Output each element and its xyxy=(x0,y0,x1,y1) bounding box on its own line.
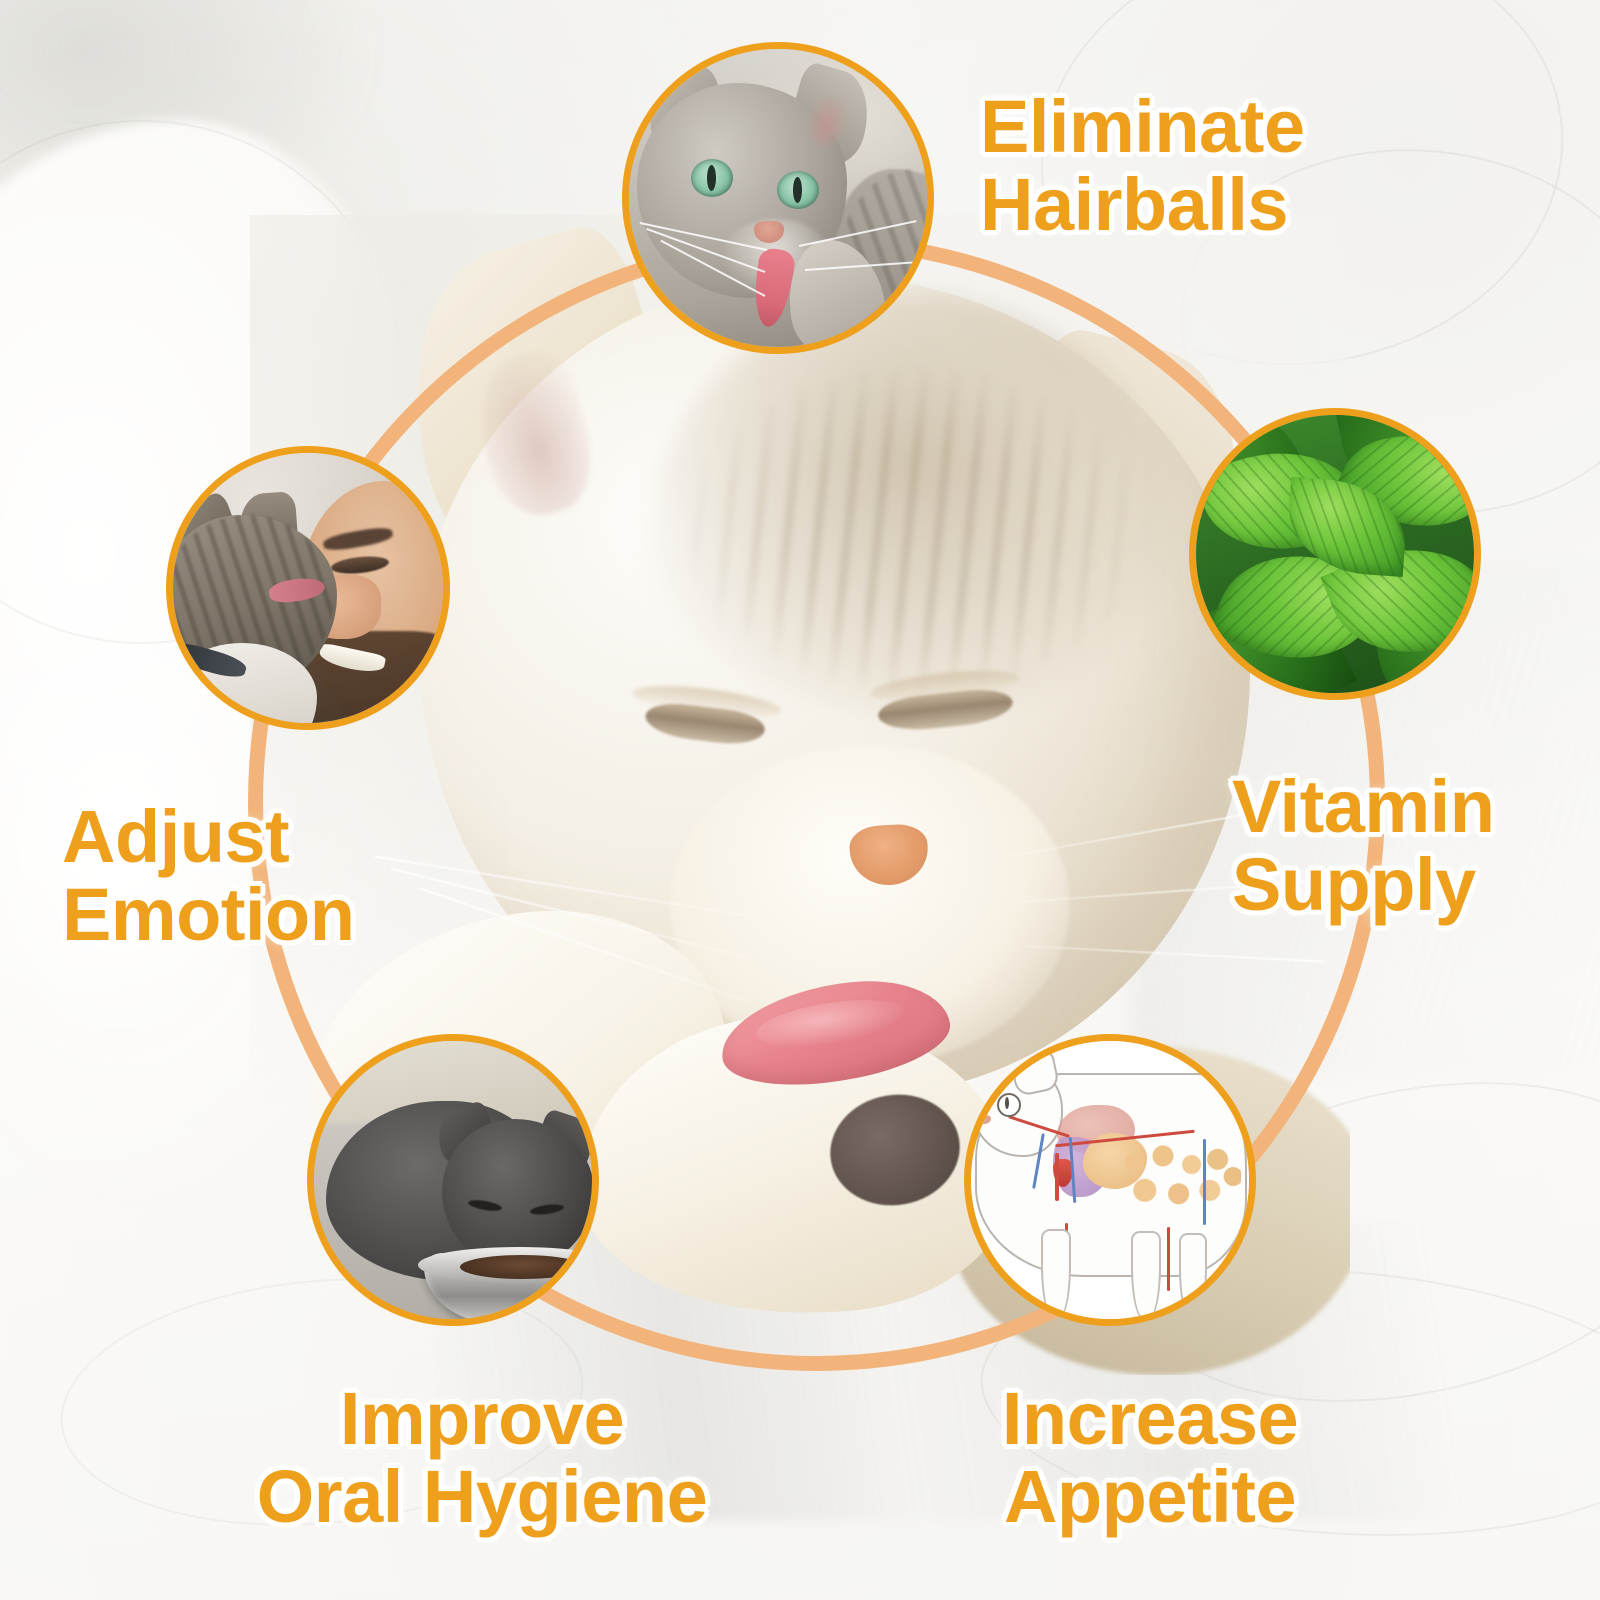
benefit-label-improve-oral-hygiene: Improve Oral Hygiene xyxy=(232,1380,732,1535)
benefit-circle-vitamin-supply[interactable] xyxy=(1189,408,1481,700)
benefit-label-vitamin-supply: Vitamin Supply xyxy=(1232,768,1494,923)
benefit-circle-improve-oral-hygiene[interactable] xyxy=(307,1034,599,1326)
benefit-label-adjust-emotion: Adjust Emotion xyxy=(62,798,354,953)
benefit-label-eliminate-hairballs: Eliminate Hairballs xyxy=(980,88,1305,243)
benefit-circle-adjust-emotion[interactable] xyxy=(166,446,450,730)
cat-licking-paw-photo xyxy=(629,49,927,347)
mint-leaves-photo xyxy=(1196,415,1474,693)
benefit-circle-increase-appetite[interactable] xyxy=(964,1034,1256,1326)
benefit-circle-eliminate-hairballs[interactable] xyxy=(622,42,934,354)
infographic-canvas: Eliminate Hairballs Vitamin Supply Incre… xyxy=(0,0,1600,1600)
benefit-label-increase-appetite: Increase Appetite xyxy=(930,1380,1370,1535)
cat-anatomy-diagram xyxy=(971,1041,1249,1319)
cat-licking-man-face-photo xyxy=(173,453,443,723)
cat-eating-from-bowl-photo xyxy=(314,1041,592,1319)
cat-tabby-stripes xyxy=(680,365,1150,695)
